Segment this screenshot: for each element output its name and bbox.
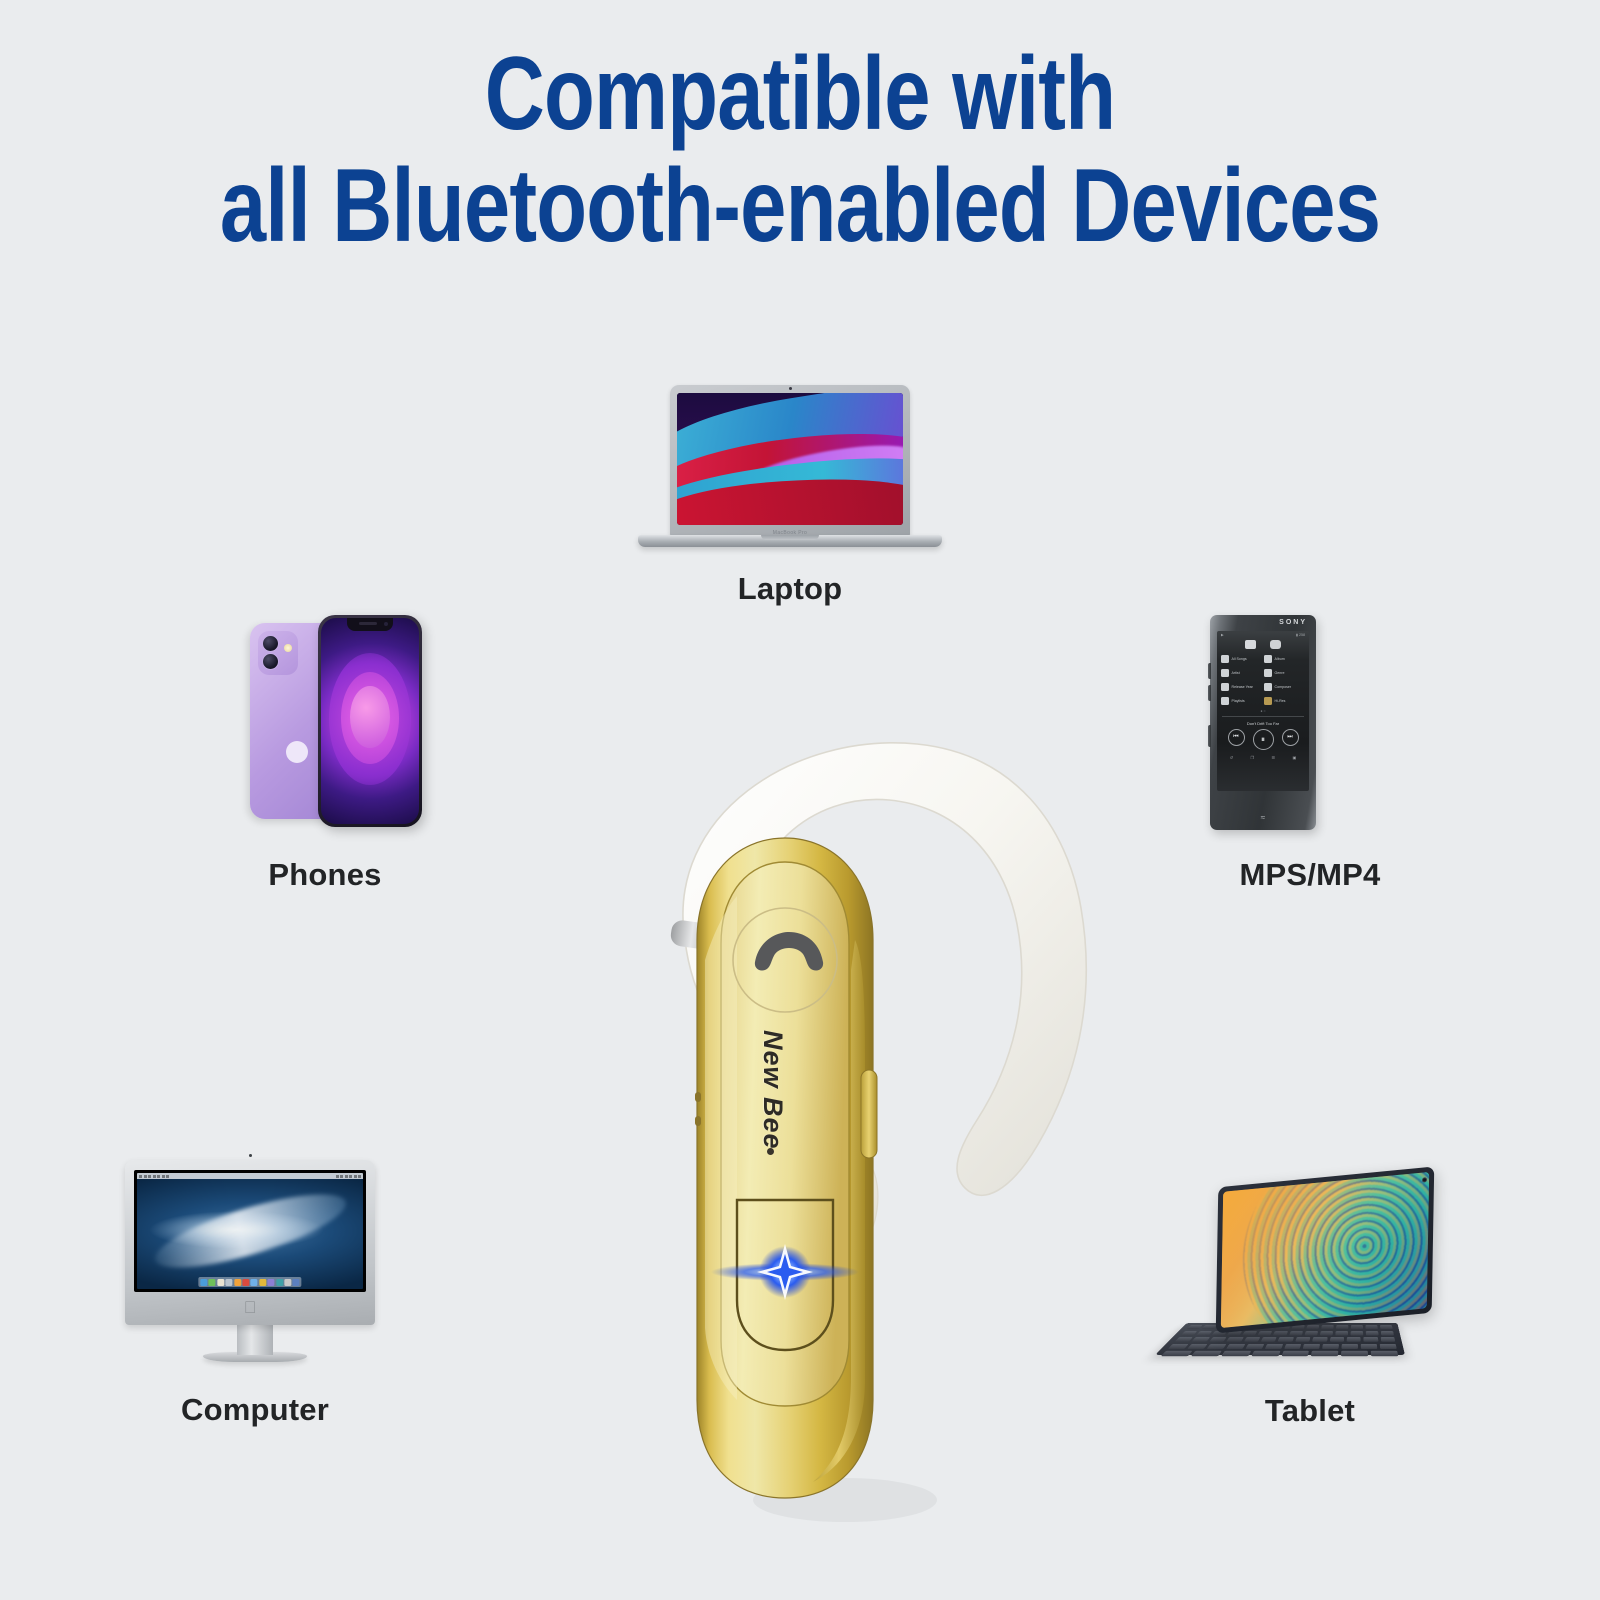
keyboard-key[interactable] <box>1311 1351 1339 1356</box>
dock-app-icon[interactable] <box>242 1279 249 1286</box>
keyboard-key[interactable] <box>1351 1325 1363 1329</box>
device-tablet: Tablet <box>1145 1165 1475 1465</box>
keyboard-key[interactable] <box>1273 1331 1287 1335</box>
genre-icon <box>1264 669 1272 677</box>
keyboard-key[interactable] <box>1202 1325 1218 1329</box>
walkman-body: SONY ▶ ▮ 258 All Songs Album Artist Ge <box>1210 615 1316 830</box>
keyboard-key[interactable] <box>1161 1351 1193 1356</box>
keyboard-key[interactable] <box>1364 1337 1379 1342</box>
keyboard-key[interactable] <box>1380 1337 1395 1342</box>
walkman-tab-row[interactable] <box>1217 637 1309 653</box>
play-pause-button[interactable]: ⏸ <box>1253 729 1274 750</box>
keyboard-key[interactable] <box>1181 1331 1198 1335</box>
keyboard-key[interactable] <box>1320 1331 1333 1335</box>
tablet-screen <box>1221 1172 1429 1328</box>
dock-app-icon[interactable] <box>259 1279 266 1286</box>
imac-body:  <box>125 1160 375 1325</box>
keyboard-row[interactable] <box>1161 1351 1398 1356</box>
walkman-bottom-bar[interactable]: ↺ ❐ ☰ ▣ <box>1217 754 1309 761</box>
wallpaper-orange-sheen <box>1221 1172 1429 1328</box>
imac-screen <box>134 1170 366 1292</box>
infographic-canvas: Compatible with all Bluetooth-enabled De… <box>0 0 1600 1600</box>
keyboard-key[interactable] <box>1381 1331 1394 1335</box>
keyboard-key[interactable] <box>1289 1331 1303 1335</box>
walkman-now-playing-title: Don't Drift Too Far <box>1217 720 1309 729</box>
tablet-keyboard[interactable] <box>1155 1323 1405 1355</box>
dock-app-icon[interactable] <box>276 1279 283 1286</box>
keyboard-key[interactable] <box>1192 1337 1210 1342</box>
device-label-mp4: MPS/MP4 <box>1155 857 1465 893</box>
artist-icon <box>1221 669 1229 677</box>
imac-chin:  <box>134 1292 366 1322</box>
phone-earpiece-speaker <box>359 622 377 625</box>
status-battery-icon: ▮ 258 <box>1296 633 1305 637</box>
keyboard-key[interactable] <box>1335 1331 1348 1335</box>
imac-desktop-wallpaper <box>137 1173 363 1289</box>
keyboard-key[interactable] <box>1243 1331 1258 1335</box>
dock-app-icon[interactable] <box>251 1279 258 1286</box>
keyboard-key[interactable] <box>1321 1325 1334 1329</box>
camera-lens-icon <box>262 653 279 670</box>
menu-item[interactable]: Hi-Res <box>1264 697 1305 705</box>
headset-brand-dot <box>767 1148 774 1155</box>
device-label-laptop: Laptop <box>620 571 960 607</box>
laptop-webcam-icon <box>789 387 792 390</box>
queue-icon[interactable]: ☰ <box>1271 755 1275 760</box>
keyboard-key[interactable] <box>1243 1337 1260 1342</box>
title-line-2: all Bluetooth-enabled Devices <box>160 150 1440 262</box>
menu-item[interactable]: Composer <box>1264 683 1305 691</box>
hi-res-badge-icon <box>1264 697 1272 705</box>
walkman-screen: ▶ ▮ 258 All Songs Album Artist Genre Rel… <box>1217 631 1309 791</box>
menu-bar-status-items[interactable] <box>336 1175 362 1178</box>
keyboard-key[interactable] <box>1265 1344 1283 1349</box>
camera-flash-icon <box>284 644 292 652</box>
dock-app-icon[interactable] <box>293 1279 300 1286</box>
imac-webcam-icon <box>249 1154 252 1157</box>
menu-item[interactable]: Release Year <box>1221 683 1262 691</box>
keyboard-row[interactable] <box>1175 1337 1396 1342</box>
page-title: Compatible with all Bluetooth-enabled De… <box>0 38 1600 262</box>
keyboard-key[interactable] <box>1278 1337 1294 1342</box>
device-label-computer: Computer <box>95 1392 415 1428</box>
keyboard-row[interactable] <box>1168 1344 1397 1349</box>
keyboard-key[interactable] <box>1295 1337 1311 1342</box>
device-label-phones: Phones <box>200 857 450 893</box>
walkman-volume-up-button <box>1208 663 1211 679</box>
dock-app-icon[interactable] <box>284 1279 291 1286</box>
menu-item[interactable]: Artist <box>1221 669 1262 677</box>
phone-front-view <box>318 615 422 827</box>
menu-bar-left-items[interactable] <box>139 1175 169 1178</box>
back-icon[interactable]: ↺ <box>1230 755 1233 760</box>
keyboard-key[interactable] <box>1196 1331 1212 1335</box>
walkman-power-button <box>1208 725 1211 747</box>
walkman-logo-icon: ≈ <box>1251 813 1275 822</box>
keyboard-key[interactable] <box>1221 1351 1251 1356</box>
keyboard-key[interactable] <box>1350 1331 1363 1335</box>
phone-notch <box>347 618 393 631</box>
keyboard-key[interactable] <box>1168 1344 1189 1349</box>
walkman-brand-text: SONY <box>1279 619 1307 626</box>
imac-dock[interactable] <box>198 1277 301 1287</box>
keyboard-key[interactable] <box>1312 1337 1327 1342</box>
bluetooth-headset-product: New Bee <box>545 640 1105 1540</box>
wallpaper-galaxy <box>148 1180 352 1283</box>
laptop-base <box>638 535 942 547</box>
walkman-page-indicator: ● ○ <box>1217 707 1309 713</box>
options-icon[interactable]: ▣ <box>1292 755 1296 760</box>
menu-item[interactable]: Album <box>1264 655 1305 663</box>
keyboard-key[interactable] <box>1365 1325 1378 1329</box>
menu-item[interactable]: All Songs <box>1221 655 1262 663</box>
dock-app-icon[interactable] <box>267 1279 274 1286</box>
device-mp4-player: SONY ▶ ▮ 258 All Songs Album Artist Ge <box>1155 605 1465 915</box>
menu-item[interactable]: Genre <box>1264 669 1305 677</box>
keyboard-key[interactable] <box>1175 1337 1194 1342</box>
keyboard-key[interactable] <box>1281 1351 1309 1356</box>
keyboard-key[interactable] <box>1284 1344 1302 1349</box>
phone-screen <box>321 618 419 824</box>
dock-app-icon[interactable] <box>234 1279 241 1286</box>
phone-camera-module <box>258 631 298 675</box>
walkman-transport-controls[interactable]: ⏮ ⏸ ⏭ <box>1217 729 1309 754</box>
keyboard-key[interactable] <box>1380 1325 1393 1329</box>
keyboard-key[interactable] <box>1304 1331 1318 1335</box>
keyboard-key[interactable] <box>1191 1351 1222 1356</box>
keyboard-key[interactable] <box>1342 1344 1358 1349</box>
playlist-flag-icon <box>1221 697 1229 705</box>
keyboard-row[interactable] <box>1181 1331 1394 1335</box>
walkman-divider <box>1222 716 1304 717</box>
keyboard-key[interactable] <box>1322 1344 1339 1349</box>
laptop-screen <box>677 393 903 525</box>
walkman-menu-grid[interactable]: All Songs Album Artist Genre Release Yea… <box>1217 653 1309 707</box>
headset-mic-port <box>695 1116 701 1126</box>
keyboard-key[interactable] <box>1251 1351 1280 1356</box>
headset-mic-port <box>695 1092 701 1102</box>
laptop-lid: MacBook Pro <box>670 385 910 537</box>
device-computer:  Computer <box>95 1160 415 1460</box>
keyboard-key[interactable] <box>1341 1351 1368 1356</box>
keyboard-key[interactable] <box>1361 1344 1378 1349</box>
library-tab-icon[interactable] <box>1270 640 1281 649</box>
sound-settings-icon[interactable]: ❐ <box>1250 755 1254 760</box>
laptop-base-notch <box>761 535 819 540</box>
wallpaper-ring-inner <box>350 686 389 748</box>
previous-track-button[interactable]: ⏮ <box>1228 729 1245 746</box>
keyboard-key[interactable] <box>1261 1337 1277 1342</box>
status-play-icon: ▶ <box>1221 633 1224 637</box>
walkman-volume-down-button <box>1208 685 1211 701</box>
menu-item[interactable]: Playlists <box>1221 697 1262 705</box>
imac-stand-neck <box>237 1323 273 1355</box>
keyboard-key[interactable] <box>1226 1344 1245 1349</box>
imac-menu-bar <box>137 1173 363 1179</box>
phone-magsafe-ring <box>286 741 308 763</box>
apple-logo-icon:  <box>244 1299 257 1316</box>
headset-side-button <box>861 1070 877 1158</box>
title-line-1: Compatible with <box>160 38 1440 150</box>
keyboard-key[interactable] <box>1366 1331 1379 1335</box>
keyboard-key[interactable] <box>1371 1351 1398 1356</box>
keyboard-key[interactable] <box>1245 1344 1264 1349</box>
tablet-body <box>1216 1166 1435 1333</box>
dock-app-icon[interactable] <box>226 1279 233 1286</box>
dock-app-icon[interactable] <box>209 1279 216 1286</box>
keyboard-rows[interactable] <box>1161 1325 1398 1356</box>
keyboard-key[interactable] <box>1258 1331 1273 1335</box>
dock-app-icon[interactable] <box>200 1279 207 1286</box>
device-label-tablet: Tablet <box>1145 1393 1475 1429</box>
keyboard-key[interactable] <box>1226 1337 1243 1342</box>
next-track-button[interactable]: ⏭ <box>1282 729 1299 746</box>
keyboard-key[interactable] <box>1303 1344 1320 1349</box>
device-phones: Phones <box>200 605 450 915</box>
calendar-icon <box>1221 683 1229 691</box>
keyboard-key[interactable] <box>1347 1337 1361 1342</box>
keyboard-key[interactable] <box>1207 1344 1227 1349</box>
keyboard-key[interactable] <box>1336 1325 1348 1329</box>
keyboard-key[interactable] <box>1187 1325 1203 1329</box>
camera-lens-icon <box>262 635 279 652</box>
keyboard-key[interactable] <box>1306 1325 1319 1329</box>
headset-gold-body <box>695 838 877 1498</box>
keyboard-key[interactable] <box>1329 1337 1344 1342</box>
dock-app-icon[interactable] <box>217 1279 224 1286</box>
keyboard-key[interactable] <box>1380 1344 1397 1349</box>
phone-front-camera-icon <box>384 622 388 626</box>
music-note-icon <box>1221 655 1229 663</box>
headset-brand-text: New Bee <box>757 1030 788 1150</box>
radio-tab-icon[interactable] <box>1245 640 1256 649</box>
device-laptop: MacBook Pro Laptop <box>620 385 960 625</box>
album-icon <box>1264 655 1272 663</box>
keyboard-key[interactable] <box>1187 1344 1207 1349</box>
composer-pen-icon <box>1264 683 1272 691</box>
keyboard-key[interactable] <box>1209 1337 1227 1342</box>
